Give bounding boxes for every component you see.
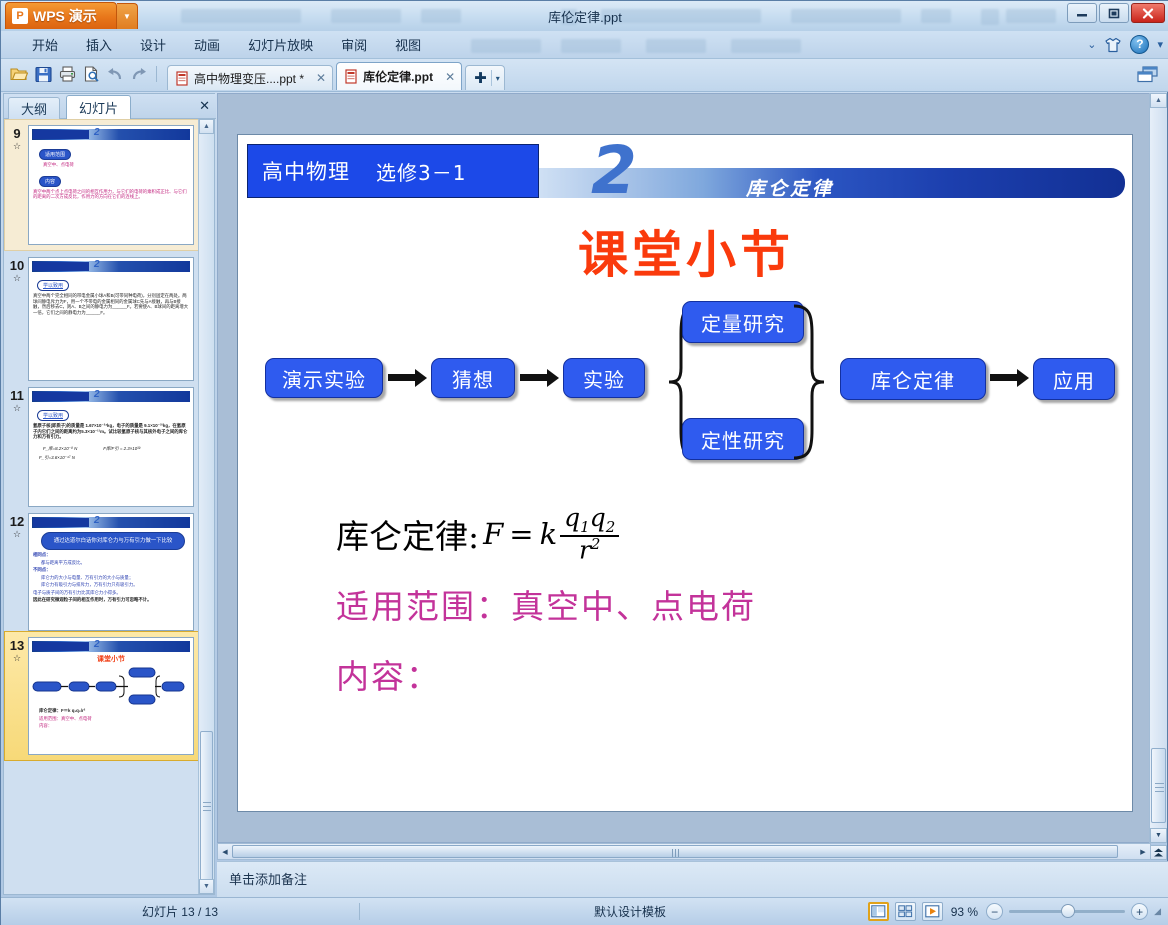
zoom-in-button[interactable]: + xyxy=(1131,903,1148,920)
summary-flowchart: 演示实验 猜想 实验 定量研究 定性研究 库仑定律 应用 xyxy=(238,290,1133,490)
banner-chapter-number: 2 xyxy=(591,144,637,198)
minimize-button[interactable] xyxy=(1067,3,1097,23)
ppt-file-icon xyxy=(344,69,358,84)
animation-star-icon: ☆ xyxy=(6,402,28,414)
plus-icon[interactable]: ✚ xyxy=(470,69,491,87)
thumbnail-meta: 12 ☆ xyxy=(6,513,28,540)
scrollbar-thumb[interactable] xyxy=(232,845,1118,858)
slide-number: 9 xyxy=(6,127,28,140)
slides-panel-scrollbar[interactable]: ▲ ▼ xyxy=(198,119,214,894)
slide-thumbnail-12[interactable]: 12 ☆ 2 通过达道尔白话你对库仑力与万有引力做一下比较 相同点： 都与距离平… xyxy=(4,507,200,631)
menu-item-animation[interactable]: 动画 xyxy=(181,32,233,57)
flow-node-quantitative-study[interactable]: 定量研究 xyxy=(682,301,804,343)
document-tab-2[interactable]: 库伦定律.ppt ✕ xyxy=(336,62,462,90)
slide-thumbnail-11[interactable]: 11 ☆ 2 学以致用 氢原子核(即质子)的质量是 1.67×10⁻²⁷kg，电… xyxy=(4,381,200,507)
mini-text: 因此在研究微观粒子间的相互作用时，万有引力可忽略不计。 xyxy=(33,597,189,603)
thumbnail-canvas: 2 学以致用 真空中两个完全相同的带电金属小球A和B(可带同种电荷)，分别固定在… xyxy=(28,257,194,381)
mini-text: 氢原子核(即质子)的质量是 1.67×10⁻²⁷kg，电子的质量是 9.1×10… xyxy=(33,423,189,440)
formula-k: k xyxy=(540,517,558,551)
slide-title: 课堂小节 xyxy=(238,215,1133,287)
quick-access-toolbar: ▼ 高中物理变压....ppt * ✕ xyxy=(1,59,1168,92)
slide-thumbnail-list[interactable]: 9 ☆ 2 适用范围 真空中、点电荷 内容 真空中两个点上点电荷之间的相互作用力… xyxy=(4,119,200,894)
thumbnail-meta: 11 ☆ xyxy=(6,387,28,414)
save-icon[interactable] xyxy=(33,64,53,84)
mini-text: 库仑力有吸引力与排斥力，万有引力只有吸引力。 xyxy=(41,582,189,588)
slide-number: 10 xyxy=(6,259,28,272)
mini-text: 真空中两个点上点电荷之间的相互作用力，与它们的电荷的乘积成正比、与它们的距离的二… xyxy=(33,189,189,200)
mini-text: 真空中两个完全相同的带电金属小球A和B(可带同种电荷)，分别固定在两处。两球间静… xyxy=(33,293,189,315)
mini-text: 电子与质子间的万有引力比其库仑力小得多。 xyxy=(33,590,189,596)
thumbnail-meta: 13 ☆ xyxy=(6,637,28,664)
slides-panel: 大纲 幻灯片 ✕ 9 ☆ 2 适用范围 真空中、点电荷 内容 真空中两个点上点电… xyxy=(3,93,215,895)
mini-banner: 2 xyxy=(32,129,190,140)
menu-bar-right-tools: ⌄ ? ▾ xyxy=(1087,35,1163,54)
menu-item-view[interactable]: 视图 xyxy=(382,32,434,57)
formula-denominator: r2 xyxy=(575,537,605,564)
coulombs-law-formula-line: 库仑定律: F = k q1q2 r2 xyxy=(336,505,1096,564)
skin-shirt-icon[interactable] xyxy=(1104,37,1122,53)
slideshow-icon[interactable] xyxy=(922,902,943,921)
slide-number: 11 xyxy=(6,389,28,402)
slides-panel-tabs: 大纲 幻灯片 ✕ xyxy=(4,94,216,119)
scroll-up-arrow-icon[interactable]: ▲ xyxy=(199,119,214,134)
scroll-right-arrow-icon[interactable]: ▶ xyxy=(1137,845,1149,858)
thumbnail-meta: 10 ☆ xyxy=(6,257,28,284)
document-tab-1-label: 高中物理变压....ppt * xyxy=(194,70,304,87)
chevron-down-icon[interactable]: ⌄ xyxy=(1087,38,1096,51)
document-tab-1-close-icon[interactable]: ✕ xyxy=(316,71,326,85)
menu-bar: 开始 插入 设计 动画 幻灯片放映 审阅 视图 ⌄ ? ▾ xyxy=(1,31,1168,59)
ppt-file-icon xyxy=(175,71,189,86)
flow-node-qualitative-study[interactable]: 定性研究 xyxy=(682,418,804,460)
mini-pill: 适用范围 xyxy=(39,149,71,160)
mini-text: 都与距离平方成反比。 xyxy=(41,560,189,566)
flow-arrow-3 xyxy=(990,374,1018,381)
slide-thumbnail-9[interactable]: 9 ☆ 2 适用范围 真空中、点电荷 内容 真空中两个点上点电荷之间的相互作用力… xyxy=(4,119,200,251)
scope-line: 适用范围：真空中、点电荷 xyxy=(336,580,1096,628)
print-preview-icon[interactable] xyxy=(81,64,101,84)
animation-star-icon: ☆ xyxy=(6,140,28,152)
document-tab-2-close-icon[interactable]: ✕ xyxy=(445,70,455,84)
mini-text: 库仑力的大小与电量、万有引力的大小与质量； xyxy=(41,575,189,581)
slide-editor-area[interactable]: 高中物理 选修3－1 2 库仑定律 课堂小节 演示实验 猜想 实验 xyxy=(217,93,1151,843)
mini-banner: 2 xyxy=(32,641,190,652)
resize-grip-icon[interactable]: ◢ xyxy=(1154,906,1161,917)
notes-pane[interactable]: 单击添加备注 xyxy=(217,861,1168,897)
slide-sorter-icon[interactable] xyxy=(895,902,916,921)
slide-body-text[interactable]: 库仑定律: F = k q1q2 r2 适用范围：真空中、点电荷 内容： xyxy=(336,505,1096,698)
new-tab-caret-icon[interactable]: ▾ xyxy=(491,70,500,86)
window-controls xyxy=(1067,3,1165,23)
help-icon[interactable]: ? xyxy=(1130,35,1149,54)
formula-label: 库仑定律: xyxy=(336,510,479,558)
mini-title: 课堂小节 xyxy=(29,654,193,664)
zoom-slider-handle[interactable] xyxy=(1061,904,1075,918)
formula-expression: F = k q1q2 r2 xyxy=(483,505,619,564)
mini-pill: 通过达道尔白话你对库仑力与万有引力做一下比较 xyxy=(41,532,185,550)
help-caret-icon[interactable]: ▾ xyxy=(1157,38,1163,51)
quick-access-buttons: ▼ xyxy=(9,64,184,84)
slide-header-subject: 高中物理 xyxy=(262,156,350,186)
thumbnail-canvas: 2 通过达道尔白话你对库仑力与万有引力做一下比较 相同点： 都与距离平方成反比。… xyxy=(28,513,194,631)
zoom-out-button[interactable]: − xyxy=(986,903,1003,920)
slide-horizontal-scrollbar[interactable]: ◀ ▶ xyxy=(217,843,1151,860)
window-title: 库伦定律.ppt xyxy=(1,7,1168,26)
mini-text: 适用范围：真空中、点电荷 xyxy=(39,716,189,722)
wps-presentation-window: P WPS 演示 ▼ 库伦定律.ppt 开始 插入 设计 动画 幻灯片放映 审阅… xyxy=(0,0,1168,925)
menu-item-design[interactable]: 设计 xyxy=(127,32,179,57)
close-button[interactable] xyxy=(1131,3,1165,23)
scroll-down-arrow-icon[interactable]: ▼ xyxy=(199,879,214,894)
thumbnail-canvas: 2 课堂小节 xyxy=(28,637,194,755)
redo-icon[interactable] xyxy=(129,64,149,84)
animation-star-icon: ☆ xyxy=(6,652,28,664)
mini-formula: F_库=8.2×10⁻⁸ N xyxy=(43,446,77,452)
formula-equals: = xyxy=(509,517,533,551)
previous-slide-button[interactable] xyxy=(1150,845,1167,860)
mini-pill: 内容 xyxy=(39,176,61,187)
scroll-down-arrow-icon[interactable]: ▼ xyxy=(1150,828,1167,843)
scrollbar-thumb[interactable] xyxy=(1151,748,1166,823)
mini-text: 内容： xyxy=(39,723,189,729)
title-bar: P WPS 演示 ▼ 库伦定律.ppt xyxy=(1,1,1168,32)
tab-outline[interactable]: 大纲 xyxy=(8,97,60,119)
flow-node-application[interactable]: 应用 xyxy=(1033,358,1115,400)
mini-text: 相同点： xyxy=(33,552,189,558)
scrollbar-thumb[interactable] xyxy=(200,731,213,881)
maximize-button[interactable] xyxy=(1099,3,1129,23)
mini-formula: F库/F引 = 2.3×10³⁹ xyxy=(103,446,140,452)
mini-banner: 2 xyxy=(32,391,190,402)
mini-pill: 学以致用 xyxy=(37,280,69,291)
slide-thumbnail-10[interactable]: 10 ☆ 2 学以致用 真空中两个完全相同的带电金属小球A和B(可带同种电荷)，… xyxy=(4,251,200,381)
slide-vertical-scrollbar[interactable]: ▲ ▼ xyxy=(1149,93,1167,843)
document-tab-bar: 高中物理变压....ppt * ✕ 库伦定律.ppt ✕ ✚ ▾ xyxy=(167,62,505,90)
zoom-slider[interactable] xyxy=(1009,910,1125,913)
new-document-tab-button[interactable]: ✚ ▾ xyxy=(465,65,505,90)
status-design-template: 默认设计模板 xyxy=(360,903,900,920)
status-slide-counter: 幻灯片 13 / 13 xyxy=(1,903,359,920)
menu-item-insert[interactable]: 插入 xyxy=(73,32,125,57)
print-icon[interactable] xyxy=(57,64,77,84)
banner-chapter-name: 库仑定律 xyxy=(746,174,834,198)
formula-F: F xyxy=(483,517,503,551)
open-icon[interactable] xyxy=(9,64,29,84)
thumbnail-canvas: 2 学以致用 氢原子核(即质子)的质量是 1.67×10⁻²⁷kg，电子的质量是… xyxy=(28,387,194,507)
flow-arrow-2 xyxy=(520,374,548,381)
slide-chapter-banner: 2 库仑定律 xyxy=(539,144,1125,198)
animation-star-icon: ☆ xyxy=(6,528,28,540)
document-tab-2-label: 库伦定律.ppt xyxy=(363,68,433,85)
scroll-left-arrow-icon[interactable]: ◀ xyxy=(219,845,231,858)
mini-formula: F_引=3.6×10⁻⁴⁷ N xyxy=(39,455,189,461)
zoom-percentage: 93 % xyxy=(951,905,978,919)
mini-formula: 库仑定律：F＝k q₁q₂/r² xyxy=(39,708,189,714)
tab-slides[interactable]: 幻灯片 xyxy=(66,95,131,119)
thumbnail-canvas: 2 适用范围 真空中、点电荷 内容 真空中两个点上点电荷之间的相互作用力，与它们… xyxy=(28,125,194,245)
flow-node-experiment[interactable]: 实验 xyxy=(563,358,645,398)
flow-node-demo-experiment[interactable]: 演示实验 xyxy=(265,358,383,398)
menu-item-review[interactable]: 审阅 xyxy=(328,32,380,57)
mini-pill: 学以致用 xyxy=(37,410,69,421)
slide-header-box: 高中物理 选修3－1 xyxy=(247,144,539,198)
thumbnail-meta: 9 ☆ xyxy=(6,125,28,152)
undo-icon[interactable] xyxy=(105,64,125,84)
notes-placeholder: 单击添加备注 xyxy=(229,872,307,887)
mini-banner: 2 xyxy=(32,517,190,528)
slide-number: 12 xyxy=(6,515,28,528)
flow-node-coulombs-law[interactable]: 库仑定律 xyxy=(840,358,986,400)
mini-text: 真空中、点电荷 xyxy=(43,162,189,168)
slide-number: 13 xyxy=(6,639,28,652)
formula-numerator: q1q2 xyxy=(560,505,619,535)
toolbar-divider xyxy=(156,66,157,82)
flow-arrow-1 xyxy=(388,374,416,381)
document-tab-1[interactable]: 高中物理变压....ppt * ✕ xyxy=(167,65,333,90)
close-panel-icon[interactable]: ✕ xyxy=(199,98,210,114)
window-arrange-icon[interactable] xyxy=(1137,66,1159,86)
slide-header-volume: 选修3－1 xyxy=(376,157,466,186)
scroll-up-arrow-icon[interactable]: ▲ xyxy=(1150,93,1167,108)
mini-banner: 2 xyxy=(32,261,190,272)
status-bar: 幻灯片 13 / 13 默认设计模板 xyxy=(1,897,1168,925)
current-slide[interactable]: 高中物理 选修3－1 2 库仑定律 课堂小节 演示实验 猜想 实验 xyxy=(237,134,1133,812)
zoom-controls: 93 % − + ◢ xyxy=(868,902,1161,921)
menu-item-start[interactable]: 开始 xyxy=(19,32,71,57)
slide-thumbnail-13[interactable]: 13 ☆ 2 课堂小节 xyxy=(4,631,200,761)
mini-text: 不同点： xyxy=(33,567,189,573)
menu-item-slideshow[interactable]: 幻灯片放映 xyxy=(235,32,326,57)
normal-view-icon[interactable] xyxy=(868,902,889,921)
content-line: 内容： xyxy=(336,650,1096,698)
formula-fraction: q1q2 r2 xyxy=(560,505,619,564)
flow-node-hypothesis[interactable]: 猜想 xyxy=(431,358,515,398)
animation-star-icon: ☆ xyxy=(6,272,28,284)
